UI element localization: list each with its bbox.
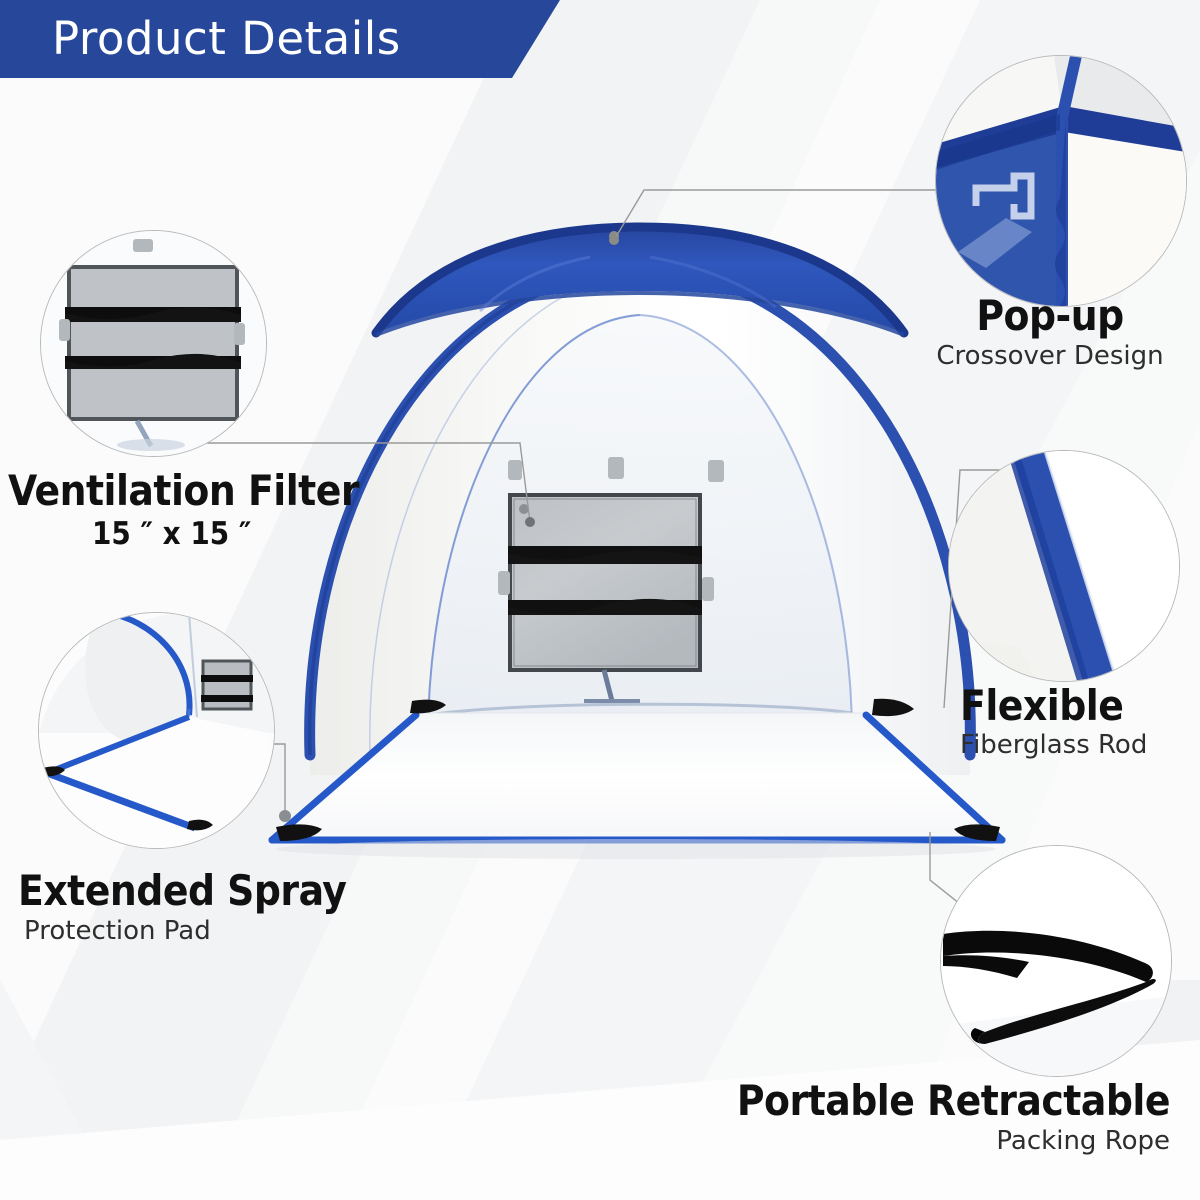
callout-ventilation-label: Ventilation Filter 15 ″ x 15 ″	[8, 470, 359, 552]
callout-ventilation-image	[40, 230, 267, 457]
callout-extended-image	[38, 612, 275, 849]
extended-pad-photo	[39, 613, 274, 848]
vent-mesh-panel	[508, 495, 702, 670]
infographic-canvas: Product Details	[0, 0, 1200, 1200]
fiberglass-rod-photo	[949, 451, 1179, 681]
callout-popup-title: Pop-up	[900, 295, 1200, 338]
callout-portable-title: Portable Retractable	[700, 1080, 1170, 1123]
callout-portable-label: Portable Retractable Packing Rope	[700, 1080, 1170, 1157]
callout-popup-image	[935, 55, 1187, 307]
callout-popup-label: Pop-up Crossover Design	[900, 295, 1200, 372]
callout-extended-title: Extended Spray	[18, 870, 346, 913]
apex-grommet	[609, 231, 619, 241]
callout-extended-subtitle: Protection Pad	[24, 917, 346, 947]
popup-crossover-photo	[936, 56, 1186, 306]
callout-flexible-subtitle: Fiberglass Rod	[960, 731, 1200, 761]
callout-flexible-title: Flexible	[960, 685, 1200, 728]
callout-popup-subtitle: Crossover Design	[900, 342, 1200, 372]
callout-extended-label: Extended Spray Protection Pad	[18, 870, 346, 947]
callout-portable-image	[940, 845, 1172, 1077]
page-title: Product Details	[52, 6, 401, 72]
ventilation-filter-photo	[41, 231, 266, 456]
callout-flexible-image	[948, 450, 1180, 682]
packing-rope-photo	[941, 846, 1171, 1076]
callout-ventilation-title: Ventilation Filter	[8, 470, 359, 513]
callout-flexible-label: Flexible Fiberglass Rod	[960, 685, 1200, 761]
callout-ventilation-subtitle: 15 ″ x 15 ″	[92, 517, 359, 553]
callout-portable-subtitle: Packing Rope	[700, 1127, 1170, 1157]
